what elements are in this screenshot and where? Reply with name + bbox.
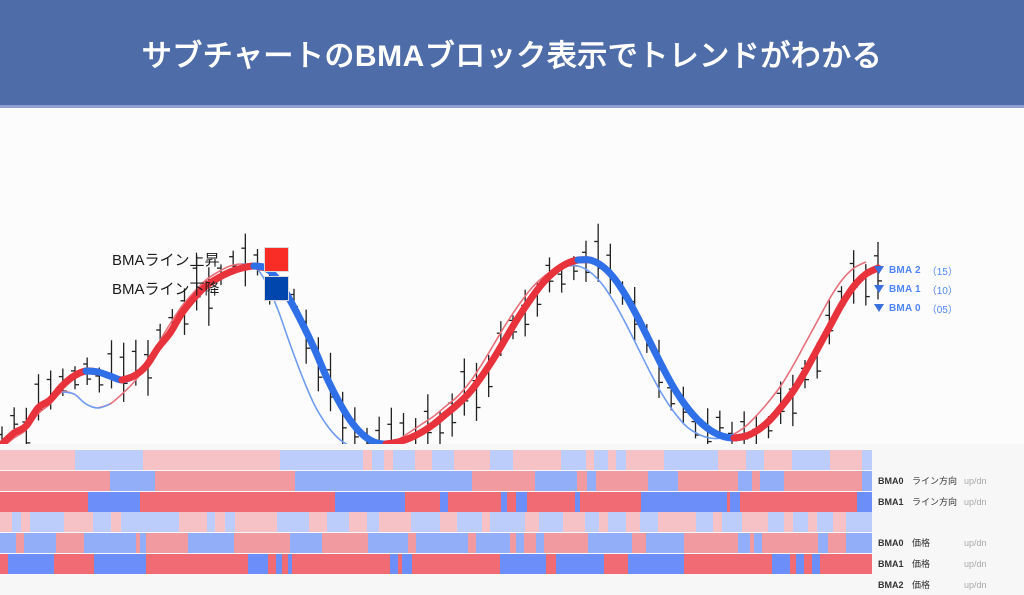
block-segment-blue [368, 533, 408, 553]
block-segment-red [309, 512, 327, 532]
block-segment-blue [846, 533, 872, 553]
block-segment-red [155, 471, 295, 491]
block-segment-blue [94, 554, 146, 574]
block-segment-red [764, 450, 792, 470]
ohlc-bar [460, 359, 468, 416]
page-title: サブチャートのBMAブロック表示でトレンドがわかる [142, 31, 883, 75]
block-segment-red [524, 533, 536, 553]
block-segment-red [234, 533, 290, 553]
header-banner: サブチャートのBMAブロック表示でトレンドがわかる [0, 0, 1024, 105]
block-segment-red [626, 450, 664, 470]
block-segment-blue [616, 450, 626, 470]
block-segment-blue [500, 554, 546, 574]
block-row-label: BMA2価格up/dn [878, 575, 987, 595]
block-segment-blue [628, 554, 684, 574]
block-segment-blue [862, 471, 872, 491]
bma-tag-period: （10） [927, 282, 958, 297]
block-segment-blue [846, 512, 872, 532]
app-root: サブチャートのBMAブロック表示でトレンドがわかる BMAライン上昇 BMAライ… [0, 0, 1024, 576]
block-row[interactable] [0, 533, 872, 553]
block-segment-red [599, 512, 608, 532]
ohlc-bar [594, 224, 602, 282]
block-row[interactable] [0, 512, 872, 532]
block-segment-red [448, 492, 501, 512]
block-segment-red [830, 450, 862, 470]
ohlc-bar [387, 408, 395, 444]
block-segment-red [632, 533, 646, 553]
block-segment-red [268, 554, 276, 574]
block-segment-blue [372, 450, 384, 470]
block-segment-red [143, 450, 280, 470]
block-segment-blue [754, 533, 762, 553]
bma-tag-name: BMA 2 [889, 265, 921, 276]
block-segment-red [384, 450, 393, 470]
bma-tag-list: BMA 2 （15） BMA 1 （10） BMA 0 （05） [874, 262, 958, 319]
block-segment-blue [588, 533, 632, 553]
block-segment-red [322, 533, 368, 553]
block-segment-blue [516, 492, 527, 512]
block-segment-red [784, 471, 862, 491]
block-segment-red [546, 554, 556, 574]
block-segment-red [0, 471, 110, 491]
block-segment-blue [738, 533, 750, 553]
block-segment-blue [561, 450, 586, 470]
block-segment-blue [535, 471, 577, 491]
block-segment-red [54, 554, 94, 574]
block-segment-blue [335, 492, 405, 512]
bma-tag-period: （15） [927, 263, 958, 278]
block-segment-blue [490, 450, 513, 470]
block-segment-red [468, 533, 476, 553]
block-segment-blue [390, 554, 398, 574]
block-segment-blue [440, 492, 448, 512]
block-segment-blue [280, 450, 363, 470]
block-segment-blue [75, 450, 143, 470]
block-segment-blue [248, 554, 268, 574]
block-segment-blue [792, 450, 830, 470]
price-relation-panel: BMA0価格up/dnBMA1価格up/dnBMA2価格up/dn [0, 512, 1024, 575]
block-segment-red [820, 554, 872, 574]
bma-thick-segment-up [2, 371, 98, 444]
block-segment-red [0, 450, 75, 470]
block-segment-blue [225, 512, 235, 532]
block-segment-blue [646, 533, 684, 553]
block-segment-blue [539, 512, 563, 532]
block-segment-red [146, 554, 248, 574]
block-segment-red [833, 512, 846, 532]
block-segment-blue [746, 450, 764, 470]
block-segment-red [0, 492, 88, 512]
block-segment-red [440, 512, 457, 532]
block-segment-red [179, 512, 207, 532]
block-segment-red [626, 512, 640, 532]
block-segment-blue [768, 512, 784, 532]
block-segment-blue [738, 471, 752, 491]
bma-thick-segment-up [386, 260, 590, 444]
chart-legend: BMAライン上昇 BMAライン下降 [112, 247, 289, 305]
bma-tag-period: （05） [927, 301, 958, 316]
block-segment-blue [12, 512, 21, 532]
block-row-kind: 価格 [912, 575, 964, 595]
block-segment-blue [121, 512, 179, 532]
block-segment-red [525, 512, 539, 532]
block-segment-red [713, 512, 722, 532]
block-segment-red [292, 554, 390, 574]
block-segment-blue [88, 492, 140, 512]
block-segment-blue [640, 512, 658, 532]
triangle-down-icon [874, 266, 884, 274]
block-segment-blue [664, 450, 718, 470]
block-segment-blue [84, 533, 136, 553]
block-segment-blue [587, 471, 596, 491]
block-segment-blue [30, 512, 64, 532]
block-segment-red [577, 471, 587, 491]
block-segment-blue [295, 471, 472, 491]
block-segment-blue [416, 533, 468, 553]
legend-label-up: BMAライン上昇 [112, 249, 252, 270]
block-segment-red [544, 533, 588, 553]
block-segment-red [762, 533, 818, 553]
block-segment-blue [516, 533, 524, 553]
block-segment-blue [812, 554, 820, 574]
block-segment-blue [207, 512, 215, 532]
bma-tag-2[interactable]: BMA 2 （15） [874, 262, 958, 278]
block-row-updn: up/dn [964, 580, 987, 590]
block-segment-red [472, 471, 535, 491]
block-segment-blue [290, 533, 322, 553]
legend-swatch-dn [264, 276, 289, 301]
block-segment-blue [277, 512, 309, 532]
triangle-down-icon [874, 285, 884, 293]
block-segment-red [363, 450, 372, 470]
bma-tag-name: BMA 1 [889, 284, 921, 295]
block-segment-blue [857, 492, 872, 512]
legend-swatch-up [264, 247, 289, 272]
block-segment-red [349, 512, 367, 532]
block-segment-red [408, 533, 416, 553]
block-segment-red [808, 512, 817, 532]
block-segment-red [828, 533, 846, 553]
block-segment-red [784, 512, 793, 532]
block-segment-red [804, 554, 812, 574]
block-segment-blue [327, 512, 349, 532]
block-segment-red [405, 492, 440, 512]
block-segment-blue [556, 554, 604, 574]
block-segment-blue [696, 512, 713, 532]
block-segment-blue [188, 533, 234, 553]
block-segment-blue [393, 450, 415, 470]
legend-label-dn: BMAライン下降 [112, 278, 252, 299]
block-segment-blue [476, 533, 510, 553]
block-segment-blue [367, 512, 379, 532]
block-segment-red [64, 512, 93, 532]
block-segment-red [740, 492, 857, 512]
block-segment-blue [862, 450, 872, 470]
block-segment-red [56, 533, 84, 553]
block-segment-red [415, 450, 432, 470]
block-segment-red [608, 450, 616, 470]
block-segment-red [111, 512, 121, 532]
block-segment-red [684, 533, 738, 553]
block-segment-blue [772, 554, 790, 574]
bma-tag-1[interactable]: BMA 1 （10） [874, 281, 958, 297]
block-segment-blue [432, 450, 454, 470]
block-segment-blue [648, 471, 678, 491]
block-segment-red [586, 450, 594, 470]
block-segment-red [752, 471, 760, 491]
block-segment-red [684, 554, 772, 574]
bma-thick-segment-up [734, 268, 878, 438]
bma-tag-0[interactable]: BMA 0 （05） [874, 300, 958, 316]
block-segment-blue [8, 554, 54, 574]
block-segment-red [215, 512, 225, 532]
block-segment-red [482, 512, 490, 532]
legend-item-up: BMAライン上昇 [112, 247, 289, 272]
block-segment-blue [402, 554, 412, 574]
block-segment-blue [457, 512, 482, 532]
block-segment-red [513, 450, 561, 470]
block-segment-blue [594, 450, 608, 470]
block-segment-blue [411, 512, 440, 532]
block-segment-blue [490, 512, 525, 532]
triangle-down-icon [874, 304, 884, 312]
block-segment-blue [585, 512, 599, 532]
block-segment-red [0, 512, 12, 532]
block-segment-red [454, 450, 490, 470]
legend-item-dn: BMAライン下降 [112, 276, 289, 301]
block-segment-red [527, 492, 575, 512]
block-segment-red [146, 533, 188, 553]
block-row[interactable] [0, 450, 872, 470]
block-segment-red [580, 492, 641, 512]
block-row[interactable] [0, 554, 872, 574]
block-row[interactable] [0, 492, 872, 512]
block-segment-red [140, 492, 335, 512]
block-segment-red [21, 512, 30, 532]
block-segment-blue [818, 533, 828, 553]
block-segment-red [604, 554, 628, 574]
block-row[interactable] [0, 471, 872, 491]
block-segment-blue [641, 492, 727, 512]
block-segment-blue [796, 554, 804, 574]
block-segment-red [718, 450, 746, 470]
block-segment-red [16, 533, 24, 553]
block-segment-blue [608, 512, 626, 532]
block-segment-blue [110, 471, 155, 491]
block-segment-red [658, 512, 696, 532]
block-segment-red [678, 471, 738, 491]
block-segment-red [596, 471, 648, 491]
block-segment-blue [536, 533, 544, 553]
block-segment-red [742, 512, 768, 532]
bma-tag-name: BMA 0 [889, 303, 921, 314]
line-direction-panel: BMA0ライン方向up/dnBMA1ライン方向up/dnBMA2ライン方向up/… [0, 450, 1024, 513]
block-segment-blue [0, 533, 16, 553]
block-segment-blue [93, 512, 111, 532]
block-segment-blue [793, 512, 808, 532]
block-segment-red [235, 512, 277, 532]
block-segment-red [0, 554, 8, 574]
block-segment-blue [730, 492, 740, 512]
block-segment-blue [817, 512, 833, 532]
block-segment-blue [24, 533, 56, 553]
price-chart-panel[interactable]: BMAライン上昇 BMAライン下降 BMA 2 （15） BMA 1 （10） [0, 108, 1024, 444]
block-segment-red [507, 492, 516, 512]
block-segment-red [379, 512, 411, 532]
block-segment-red [563, 512, 585, 532]
block-segment-blue [760, 471, 784, 491]
block-row-id: BMA2 [878, 575, 912, 595]
block-segment-blue [722, 512, 742, 532]
block-segment-red [412, 554, 500, 574]
